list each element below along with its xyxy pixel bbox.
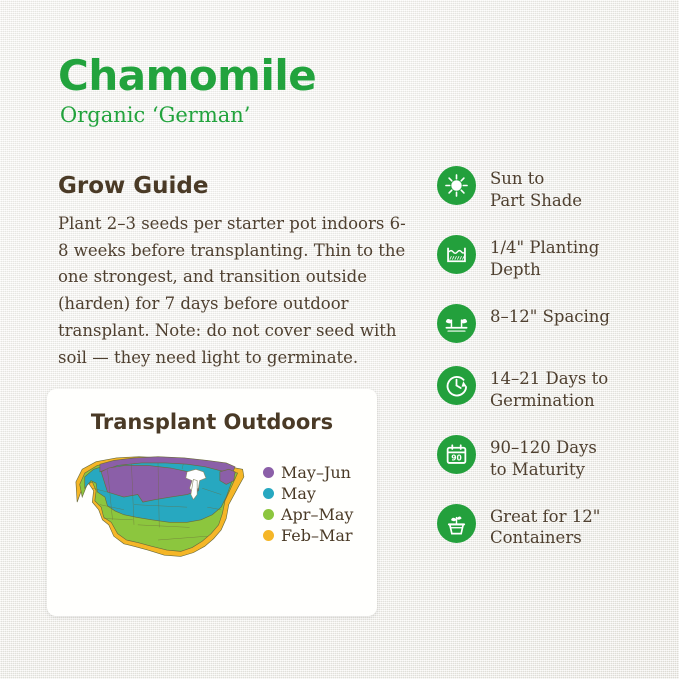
- legend-label: May–Jun: [281, 463, 351, 482]
- page-subtitle: Organic ‘German’: [60, 103, 478, 128]
- fact-days-to-maturity: 90 90–120 Days to Maturity: [437, 435, 667, 481]
- container-pot-icon: [437, 504, 476, 543]
- fact-line-1: Great for 12": [490, 506, 600, 528]
- legend-label: May: [281, 484, 316, 503]
- fact-line-1: 90–120 Days: [490, 437, 597, 459]
- grow-guide-section: Grow Guide Plant 2–3 seeds per starter p…: [58, 173, 413, 371]
- grow-guide-heading: Grow Guide: [58, 173, 413, 199]
- fact-text: 8–12" Spacing: [490, 304, 610, 328]
- map-card-title: Transplant Outdoors: [47, 410, 377, 434]
- container-pot-icon-svg: [443, 510, 470, 537]
- fact-line-1: 8–12" Spacing: [490, 306, 610, 328]
- fact-line-2: Containers: [490, 527, 600, 549]
- legend-label: Feb–Mar: [281, 526, 353, 545]
- fact-text: 90–120 Days to Maturity: [490, 435, 597, 481]
- legend-item: Apr–May: [263, 505, 353, 524]
- calendar-icon-svg: 90: [443, 441, 470, 468]
- fact-line-2: Part Shade: [490, 190, 582, 212]
- fact-text: Sun to Part Shade: [490, 166, 582, 212]
- clock-icon: [437, 366, 476, 405]
- fact-spacing: 8–12" Spacing: [437, 304, 667, 343]
- fact-line-1: 1/4" Planting: [490, 237, 599, 259]
- fact-text: 1/4" Planting Depth: [490, 235, 599, 281]
- map-row: May–Jun May Apr–May Feb–Mar: [47, 444, 377, 564]
- fact-planting-depth: 1/4" Planting Depth: [437, 235, 667, 281]
- legend-item: May: [263, 484, 353, 503]
- grow-guide-body: Plant 2–3 seeds per starter pot indoors …: [58, 211, 413, 371]
- calendar-badge-number: 90: [451, 453, 462, 462]
- legend-dot-may: [263, 488, 274, 499]
- legend-dot-feb-mar: [263, 530, 274, 541]
- fact-line-2: Depth: [490, 259, 599, 281]
- fact-text: Great for 12" Containers: [490, 504, 600, 550]
- sun-icon-svg: [443, 172, 470, 199]
- seed-packet-infographic: Chamomile Organic ‘German’ Grow Guide Pl…: [0, 0, 679, 679]
- transplant-map-card: Transplant Outdoors: [47, 389, 377, 616]
- sun-icon: [437, 166, 476, 205]
- page-title: Chamomile: [58, 55, 478, 98]
- planting-depth-icon: [437, 235, 476, 274]
- fact-container-suitability: Great for 12" Containers: [437, 504, 667, 550]
- fact-germination-time: 14–21 Days to Germination: [437, 366, 667, 412]
- fact-sun-exposure: Sun to Part Shade: [437, 166, 667, 212]
- us-zone-map-svg: [63, 444, 253, 564]
- header: Chamomile Organic ‘German’: [58, 55, 478, 128]
- legend-item: Feb–Mar: [263, 526, 353, 545]
- legend-item: May–Jun: [263, 463, 353, 482]
- map-legend: May–Jun May Apr–May Feb–Mar: [263, 461, 353, 547]
- fact-line-2: to Maturity: [490, 459, 597, 481]
- legend-label: Apr–May: [281, 505, 353, 524]
- spacing-icon-svg: [443, 310, 470, 337]
- fact-line-1: 14–21 Days to: [490, 368, 608, 390]
- calendar-icon: 90: [437, 435, 476, 474]
- legend-dot-apr-may: [263, 509, 274, 520]
- clock-icon-svg: [443, 372, 470, 399]
- planting-depth-icon-svg: [443, 241, 470, 268]
- legend-dot-may-jun: [263, 467, 274, 478]
- spacing-icon: [437, 304, 476, 343]
- fact-line-1: Sun to: [490, 168, 582, 190]
- fact-text: 14–21 Days to Germination: [490, 366, 608, 412]
- us-zone-map: [63, 444, 253, 564]
- fact-line-2: Germination: [490, 390, 608, 412]
- growing-facts-list: Sun to Part Shade 1/4" Planting Dept: [437, 166, 667, 572]
